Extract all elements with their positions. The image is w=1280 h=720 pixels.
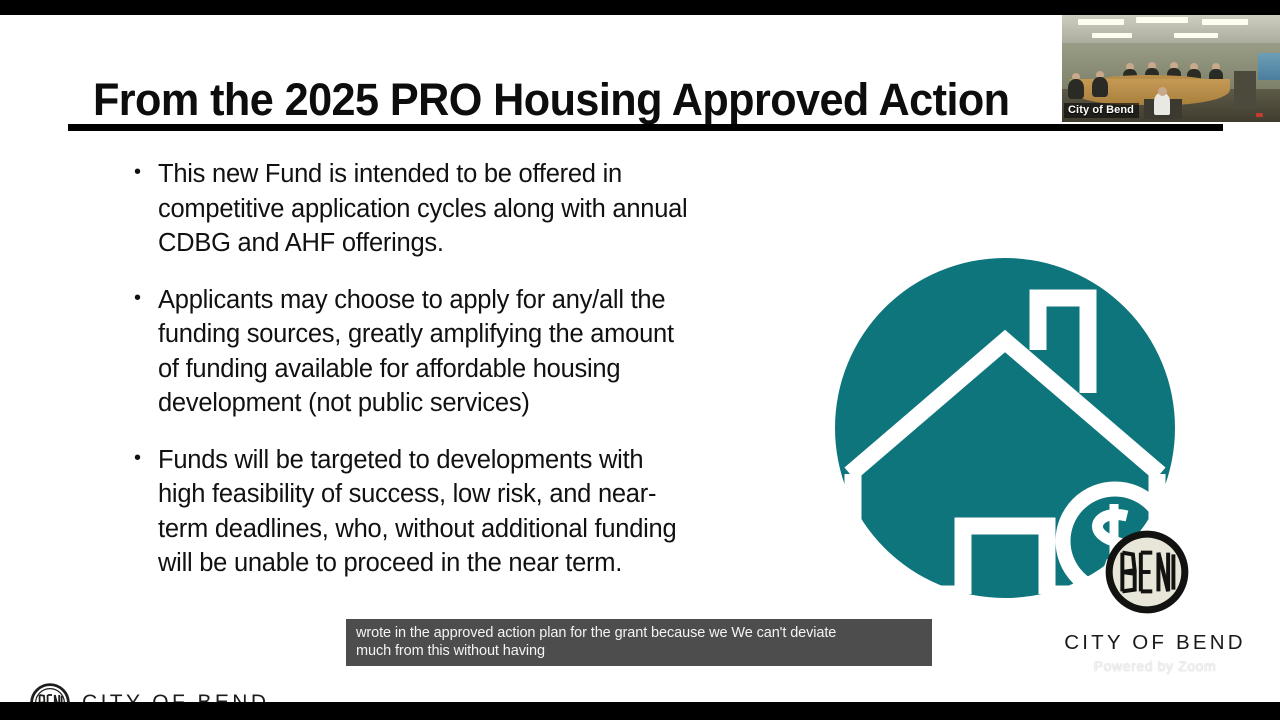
letterbox-bar-top [0, 0, 1280, 15]
list-item: Funds will be targeted to developments w… [130, 443, 690, 581]
podium [1234, 71, 1256, 109]
recording-indicator [1256, 113, 1263, 117]
ceiling-light [1174, 33, 1218, 38]
bullet-list: This new Fund is intended to be offered … [130, 157, 690, 603]
caption-line: much from this without having [356, 642, 924, 660]
letterbox-bar-bottom [0, 702, 1280, 720]
person-body [1068, 79, 1084, 99]
brand-name-left: CITY OF BEND [82, 691, 269, 702]
projection-screen [1258, 53, 1280, 80]
title-underline-rule [68, 124, 1223, 131]
presenter-body [1154, 93, 1170, 115]
webcam-participant-label: City of Bend [1064, 103, 1139, 118]
powered-by-zoom-watermark: Powered by Zoom [1040, 658, 1270, 674]
person-body [1092, 77, 1108, 97]
ceiling-light [1136, 17, 1188, 23]
bend-logo-icon [30, 683, 70, 702]
video-stage: From the 2025 PRO Housing Approved Actio… [0, 0, 1280, 720]
ceiling-light [1078, 19, 1124, 25]
ceiling-light [1092, 33, 1132, 38]
list-item: Applicants may choose to apply for any/a… [130, 283, 690, 421]
bend-logo-badge [1103, 528, 1191, 616]
live-caption-overlay[interactable]: wrote in the approved action plan for th… [346, 619, 932, 666]
webcam-thumbnail[interactable]: City of Bend [1062, 13, 1280, 122]
caption-line: wrote in the approved action plan for th… [356, 624, 924, 642]
brand-lockup-right: CITY OF BEND Powered by Zoom [1040, 631, 1270, 674]
brand-lockup-left: CITY OF BEND [30, 683, 269, 702]
presenter-head [1158, 87, 1167, 96]
ceiling-light [1202, 19, 1248, 25]
list-item: This new Fund is intended to be offered … [130, 157, 690, 261]
page-title: From the 2025 PRO Housing Approved Actio… [93, 75, 1053, 125]
brand-name-right: CITY OF BEND [1040, 631, 1270, 655]
